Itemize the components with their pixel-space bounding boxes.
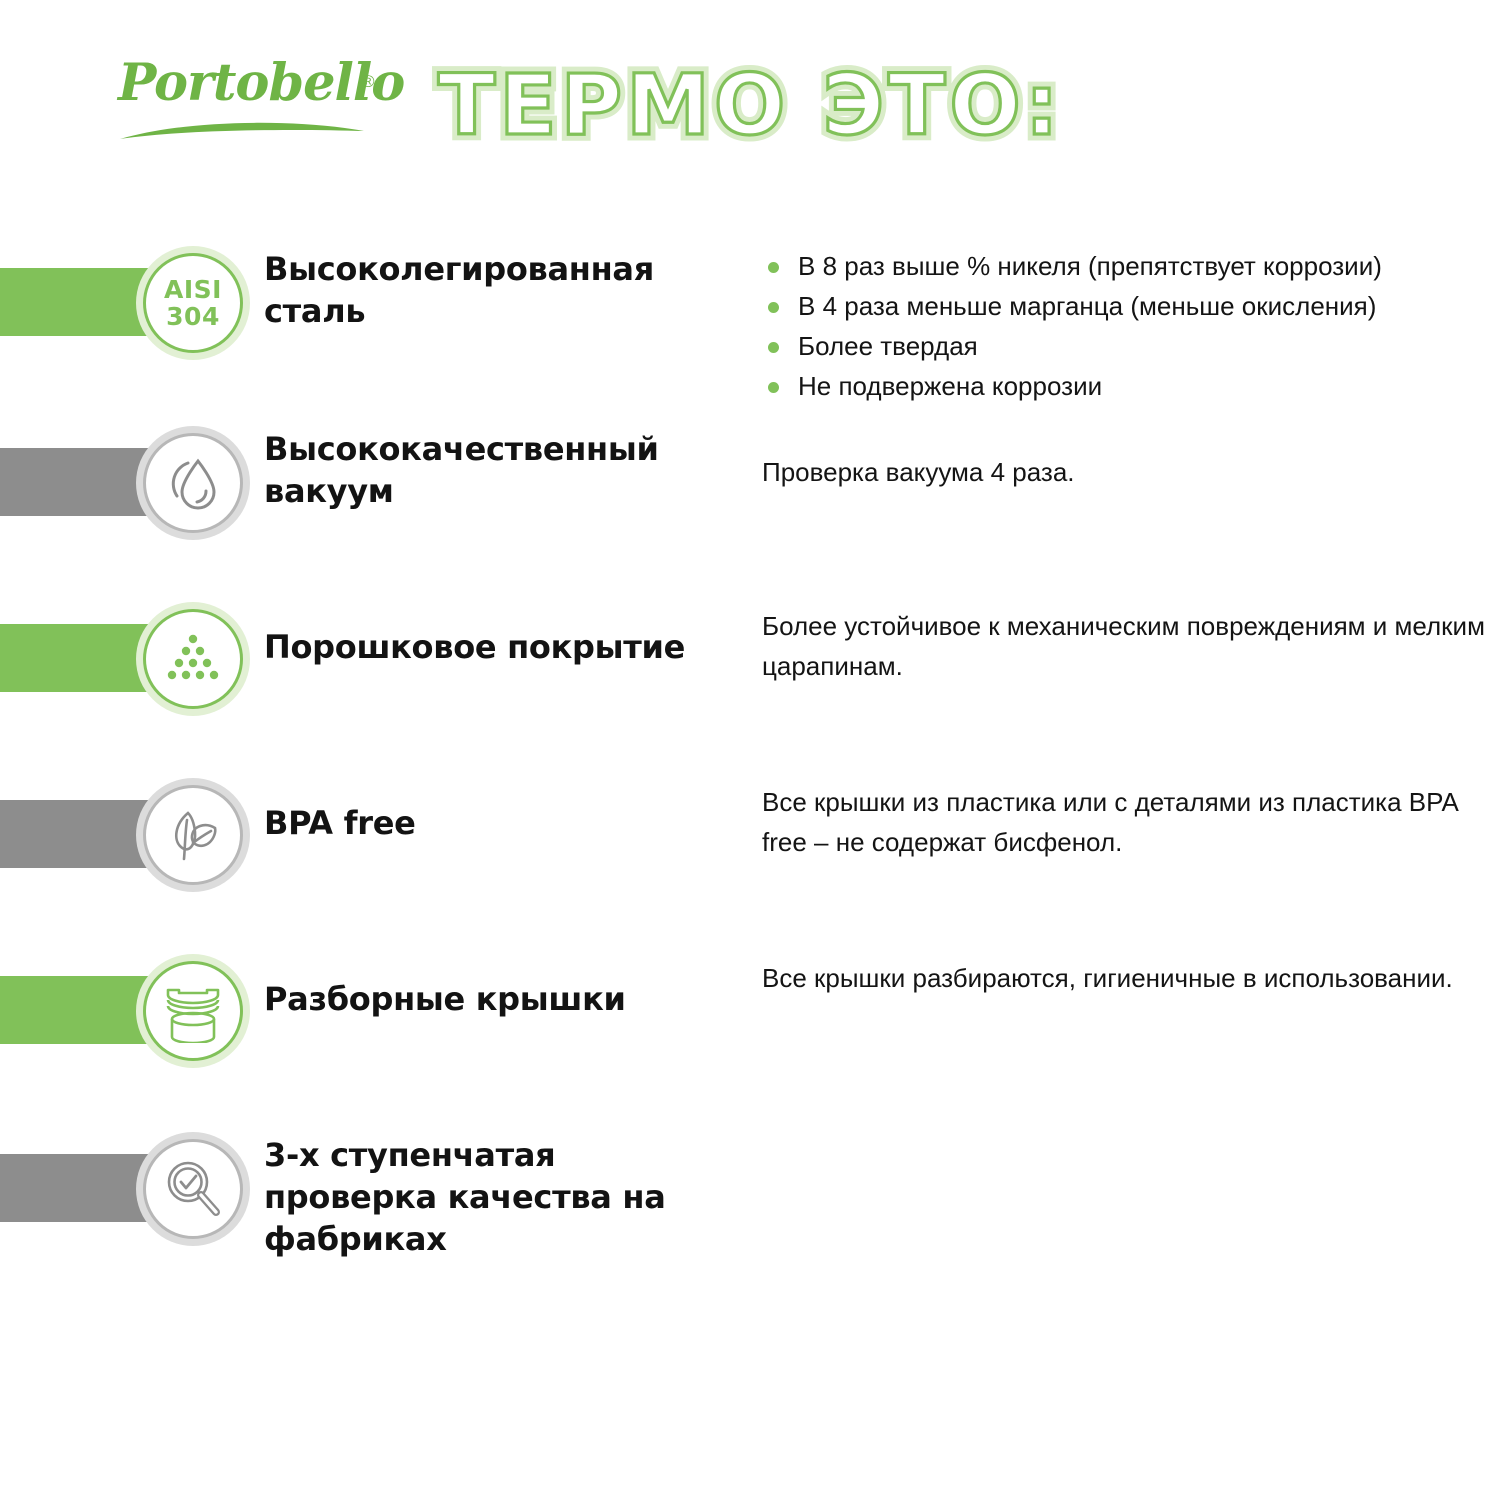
- list-item: В 8 раз выше % никеля (препятствует корр…: [762, 246, 1492, 286]
- feature-row-bpa-free: BPA free Все крышки из пластика или с де…: [0, 772, 1500, 902]
- feature-row-high-alloy-steel: AISI 304 Высоколегированная сталь В 8 ра…: [0, 240, 1500, 410]
- page-header: Portobello ® ТЕРМО ЭТО: ТЕРМО ЭТО:: [0, 0, 1500, 200]
- feature-detail: Все крышки разбираются, гигиеничные в ис…: [762, 958, 1492, 998]
- aisi-label: AISI: [164, 276, 222, 303]
- page-title: ТЕРМО ЭТО: ТЕРМО ЭТО:: [432, 52, 1072, 162]
- feature-row-detachable-lids: Разборные крышки Все крышки разбираются,…: [0, 948, 1500, 1078]
- aisi-304-badge-icon: AISI 304: [143, 253, 243, 353]
- feature-title: Высоколегированная сталь: [264, 248, 704, 332]
- registered-trademark-icon: ®: [362, 72, 375, 92]
- logo-swoosh-icon: [118, 117, 366, 143]
- magnifier-check-icon: [161, 1157, 225, 1221]
- feature-title: BPA free: [264, 802, 704, 844]
- feature-title: 3-х ступенчатая проверка качества на фаб…: [264, 1134, 704, 1260]
- water-drop-icon: [162, 452, 224, 514]
- list-item: Более твердая: [762, 326, 1492, 366]
- badge: [136, 954, 250, 1068]
- powder-dots-icon: [162, 630, 224, 688]
- feature-row-powder-coating: Порошковое покрытие Более устойчивое к м…: [0, 596, 1500, 726]
- feature-detail: В 8 раз выше % никеля (препятствует корр…: [762, 246, 1492, 406]
- aisi-grade: 304: [164, 303, 222, 330]
- portobello-logo: Portobello ®: [118, 58, 418, 153]
- feature-detail: Проверка вакуума 4 раза.: [762, 452, 1492, 492]
- page-title-outline: ТЕРМО ЭТО:: [438, 56, 1062, 154]
- feature-title: Порошковое покрытие: [264, 626, 704, 668]
- list-item: В 4 раза меньше марганца (меньше окислен…: [762, 286, 1492, 326]
- feature-row-high-quality-vacuum: Высококачественный вакуум Проверка вакуу…: [0, 420, 1500, 550]
- feature-title: Разборные крышки: [264, 978, 704, 1020]
- list-item: Не подвержена коррозии: [762, 366, 1492, 406]
- feature-title: Высококачественный вакуум: [264, 428, 704, 512]
- detachable-lid-icon: [160, 979, 226, 1043]
- feature-detail: Все крышки из пластика или с деталями из…: [762, 782, 1492, 862]
- badge: AISI 304: [136, 246, 250, 360]
- badge: [136, 778, 250, 892]
- feature-detail: Более устойчивое к механическим поврежде…: [762, 606, 1492, 686]
- bullet-list: В 8 раз выше % никеля (препятствует корр…: [762, 246, 1492, 406]
- feature-row-three-stage-quality-check: 3-х ступенчатая проверка качества на фаб…: [0, 1126, 1500, 1256]
- badge: [136, 1132, 250, 1246]
- badge: [136, 426, 250, 540]
- leaves-icon: [161, 804, 225, 866]
- badge: [136, 602, 250, 716]
